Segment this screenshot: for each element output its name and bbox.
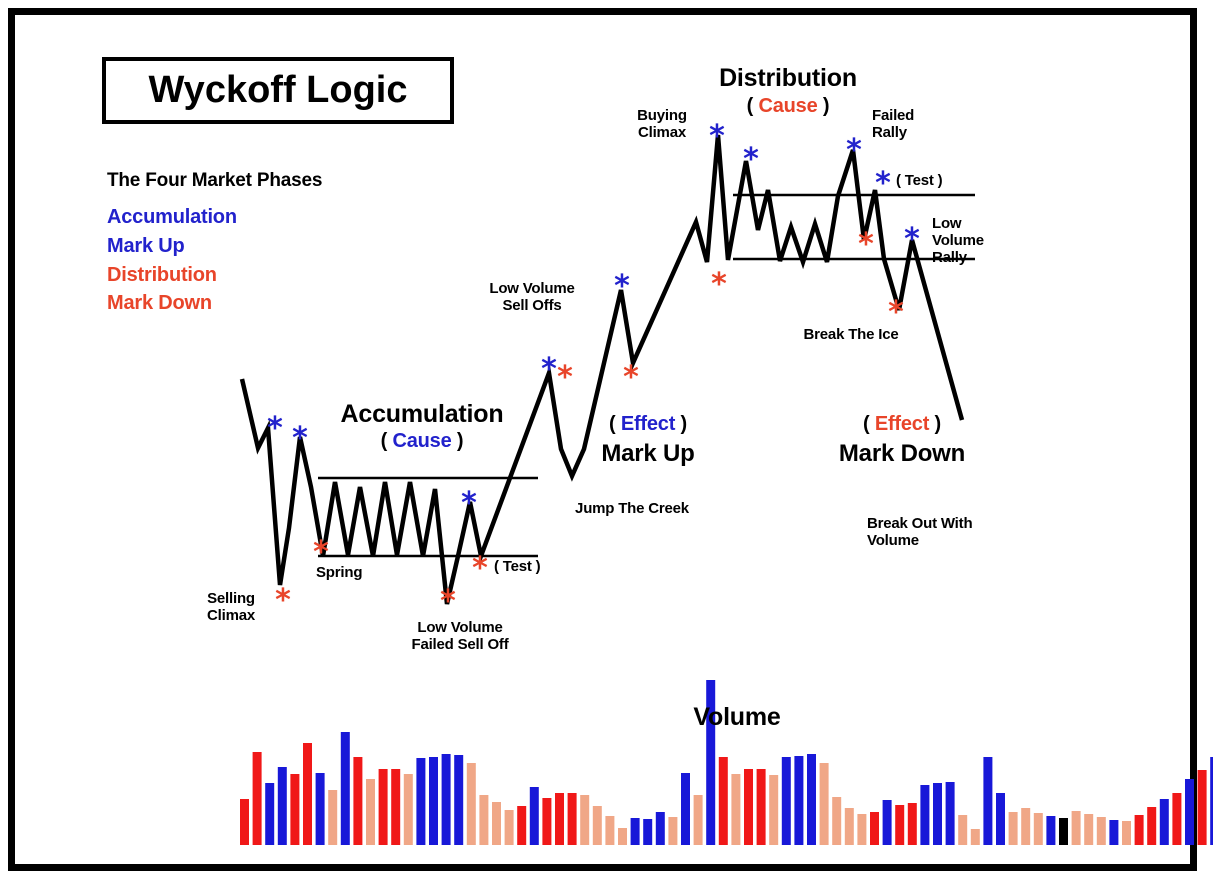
marker-red-asterisk: * [557, 363, 573, 393]
volume-bar [1147, 807, 1156, 845]
volume-bar [404, 774, 413, 845]
volume-bar [1009, 812, 1018, 845]
marker-red-asterisk: * [888, 298, 904, 328]
marker-red-asterisk: * [711, 270, 727, 300]
volume-bar [958, 815, 967, 845]
volume-bar [971, 829, 980, 845]
volume-bar [1198, 770, 1207, 845]
volume-bar [719, 757, 728, 845]
volume-bar [429, 757, 438, 845]
volume-bar [454, 755, 463, 845]
volume-bar [983, 757, 992, 845]
volume-chart-title: Volume [693, 703, 780, 731]
volume-bar [366, 779, 375, 845]
volume-bar [1084, 814, 1093, 845]
volume-bar [782, 757, 791, 845]
legend-item-markdown: Mark Down [107, 292, 212, 314]
marker-blue-asterisk: * [904, 225, 920, 255]
marker-red-asterisk: * [472, 554, 488, 584]
marker-blue-asterisk: * [461, 489, 477, 519]
volume-bar [1046, 816, 1055, 845]
paren-open: ( [609, 413, 621, 435]
volume-bar [391, 769, 400, 845]
marker-blue-asterisk: * [709, 122, 725, 152]
legend-item-markup: Mark Up [107, 235, 185, 257]
volume-bar [303, 743, 312, 845]
marker-blue-asterisk: * [292, 424, 308, 454]
volume-bar [832, 797, 841, 845]
volume-bar [794, 756, 803, 845]
volume-bar [681, 773, 690, 845]
annotation-selling-climax: Selling Climax [207, 591, 255, 625]
volume-bar [694, 795, 703, 845]
volume-bar [555, 793, 564, 845]
annotation-failed-rally: Failed Rally [872, 108, 914, 142]
volume-bar [920, 785, 929, 845]
annotation-low-volume-failed-sell-off: Low Volume Failed Sell Off [411, 620, 508, 654]
volume-bar [1097, 817, 1106, 845]
markup-phase-effect: ( Effect ) [609, 413, 687, 435]
volume-bar [580, 795, 589, 845]
price-line [242, 135, 962, 604]
volume-bar [1172, 793, 1181, 845]
annotation-test-accumulation: ( Test ) [494, 559, 540, 576]
volume-bar [820, 763, 829, 845]
volume-bar [631, 818, 640, 845]
volume-bar [593, 806, 602, 845]
volume-bar [278, 767, 287, 845]
volume-bar [353, 757, 362, 845]
marker-red-asterisk: * [275, 586, 291, 616]
volume-bar [845, 808, 854, 845]
volume-bar [1072, 811, 1081, 845]
paren-close: ) [675, 413, 687, 435]
accumulation-phase-cause: ( Cause ) [381, 430, 464, 452]
volume-bar [908, 803, 917, 845]
markdown-phase-title: Mark Down [839, 441, 965, 468]
marker-blue-asterisk: * [614, 272, 630, 302]
volume-bar [568, 793, 577, 845]
volume-bar [492, 802, 501, 845]
volume-bar [1185, 779, 1194, 845]
paren-open: ( [863, 413, 875, 435]
annotation-break-out-with-volume: Break Out With Volume [867, 516, 972, 550]
accumulation-keyword: Cause [392, 430, 451, 452]
paren-open: ( [747, 95, 759, 117]
volume-bar [265, 783, 274, 845]
paren-close: ) [452, 430, 464, 452]
volume-bar [731, 774, 740, 845]
volume-bar [605, 816, 614, 845]
volume-bar [1109, 820, 1118, 845]
volume-bar [883, 800, 892, 845]
paren-close: ) [818, 95, 830, 117]
distribution-keyword: Cause [758, 95, 817, 117]
volume-bar [769, 775, 778, 845]
marker-red-asterisk: * [440, 587, 456, 617]
volume-bar [517, 806, 526, 845]
volume-bar [946, 782, 955, 845]
marker-red-asterisk: * [623, 363, 639, 393]
volume-bar [542, 798, 551, 845]
volume-bar [1160, 799, 1169, 845]
volume-bar [1034, 813, 1043, 845]
paren-open: ( [381, 430, 393, 452]
volume-bar [1021, 808, 1030, 845]
page-title: Wyckoff Logic [106, 61, 450, 120]
annotation-jump-the-creek: Jump The Creek [575, 501, 689, 518]
legend-item-accumulation: Accumulation [107, 206, 237, 228]
annotation-test-distribution: ( Test ) [896, 173, 942, 190]
volume-bar [530, 787, 539, 845]
volume-bar [240, 799, 249, 845]
annotation-break-the-ice: Break The Ice [804, 327, 899, 344]
volume-bar [253, 752, 262, 845]
markup-phase-title: Mark Up [601, 441, 694, 468]
volume-bar [328, 790, 337, 845]
marker-blue-asterisk: * [267, 414, 283, 444]
volume-bar [744, 769, 753, 845]
volume-bar [618, 828, 627, 845]
volume-bar [933, 783, 942, 845]
marker-blue-asterisk: * [743, 145, 759, 175]
volume-bar [1135, 815, 1144, 845]
volume-bar [757, 769, 766, 845]
volume-bar [643, 819, 652, 845]
paren-close: ) [929, 413, 941, 435]
volume-bar [341, 732, 350, 845]
annotation-buying-climax: Buying Climax [637, 108, 687, 142]
annotation-low-volume-rally: Low Volume Rally [932, 216, 984, 266]
volume-bar [870, 812, 879, 845]
distribution-phase-cause: ( Cause ) [747, 95, 830, 117]
volume-bar [1059, 818, 1068, 845]
volume-bar [807, 754, 816, 845]
accumulation-phase-title: Accumulation [341, 400, 504, 428]
volume-bar [290, 774, 299, 845]
markdown-keyword: Effect [875, 413, 929, 435]
marker-blue-asterisk: * [541, 355, 557, 385]
volume-bar [656, 812, 665, 845]
volume-bar [379, 769, 388, 845]
title-box: Wyckoff Logic [102, 57, 454, 124]
volume-bar [442, 754, 451, 845]
marker-blue-asterisk: * [875, 169, 891, 199]
marker-blue-asterisk: * [846, 136, 862, 166]
marker-red-asterisk: * [313, 538, 329, 568]
volume-bar [895, 805, 904, 845]
annotation-low-volume-sell-offs: Low Volume Sell Offs [489, 281, 574, 315]
distribution-phase-title: Distribution [719, 64, 857, 92]
legend-item-distribution: Distribution [107, 264, 217, 286]
volume-bar [505, 810, 514, 845]
legend-heading: The Four Market Phases [107, 170, 322, 191]
volume-bar [857, 814, 866, 845]
volume-bar [467, 763, 476, 845]
volume-bar [996, 793, 1005, 845]
volume-bar [479, 795, 488, 845]
volume-bar [316, 773, 325, 845]
marker-red-asterisk: * [858, 230, 874, 260]
volume-bar [416, 758, 425, 845]
volume-bar [1122, 821, 1131, 845]
markdown-phase-effect: ( Effect ) [863, 413, 941, 435]
markup-keyword: Effect [621, 413, 675, 435]
volume-bar [668, 817, 677, 845]
